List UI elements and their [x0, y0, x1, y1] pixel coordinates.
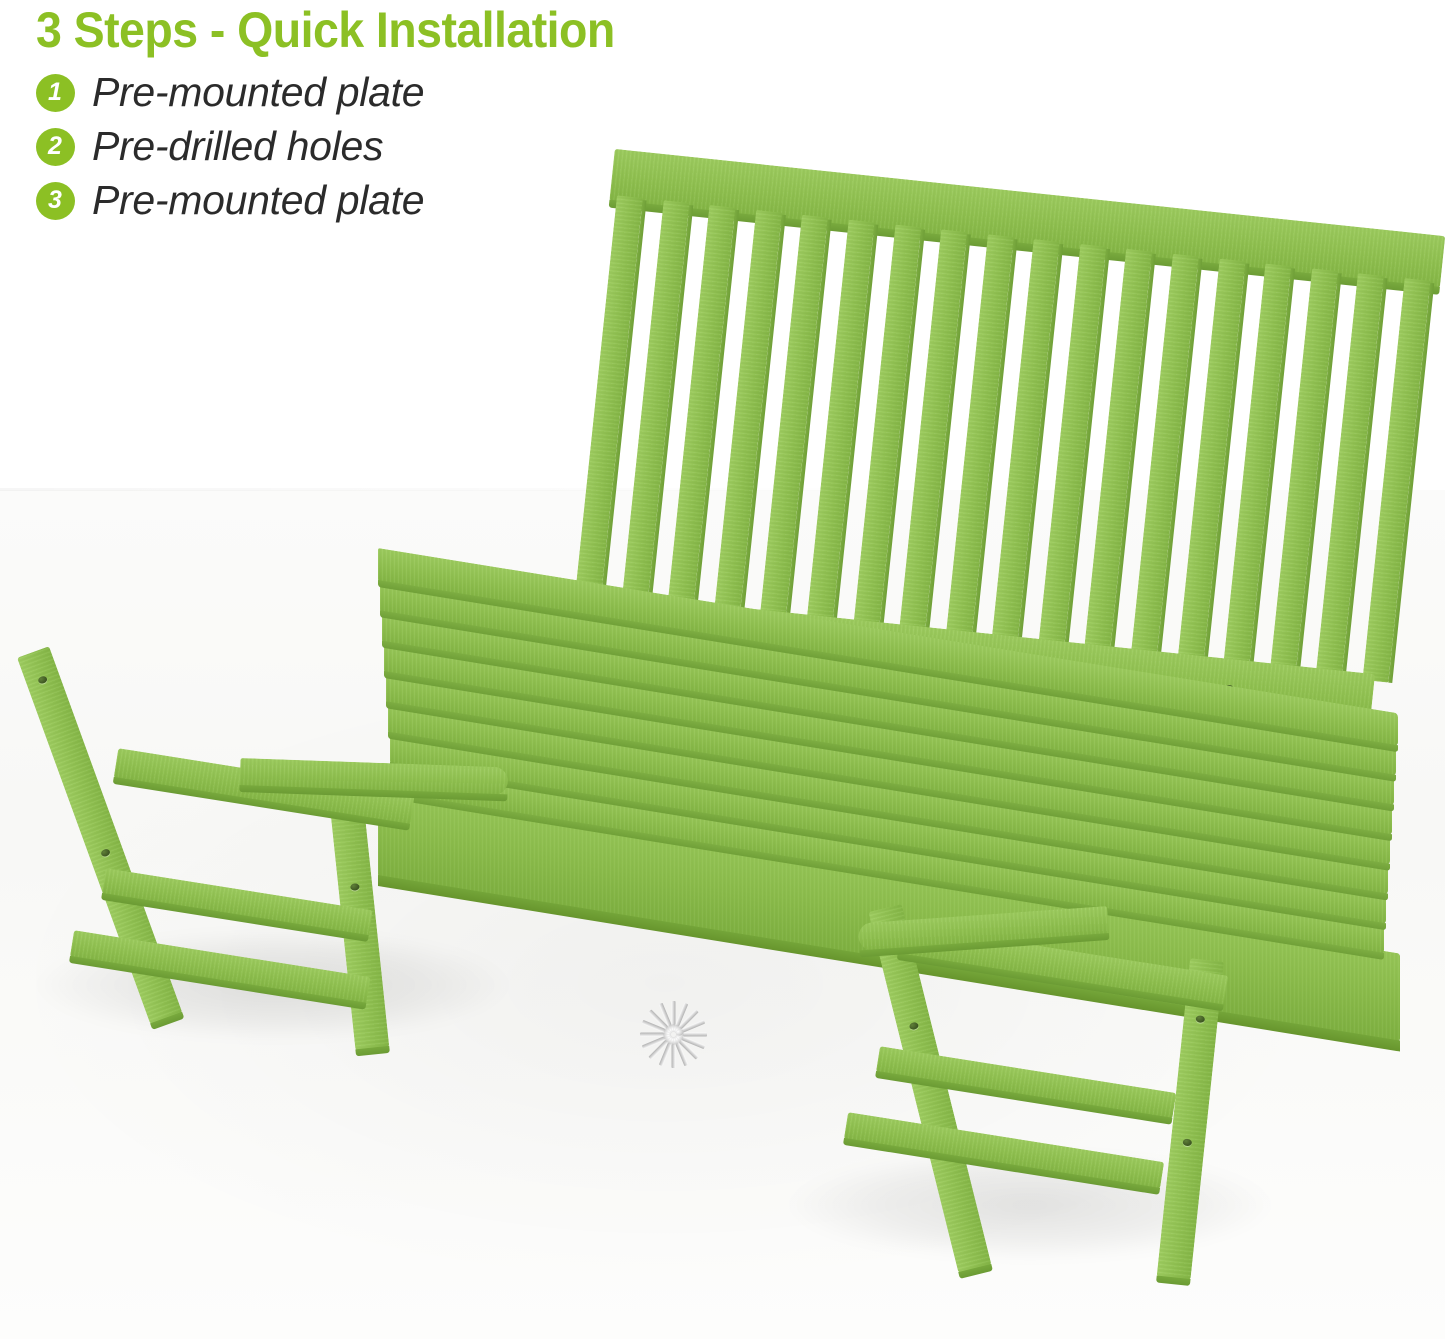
leg-arm-rail-left: [240, 758, 509, 795]
step-badge-1: 1: [36, 74, 75, 112]
page-title: 3 Steps - Quick Installation: [36, 4, 1022, 57]
product-installation-graphic: 3 Steps - Quick Installation 1 Pre-mount…: [0, 0, 1445, 1339]
step-label-2: Pre-drilled holes: [92, 126, 383, 167]
pre-drilled-hole: [37, 675, 48, 685]
step-badge-2: 2: [36, 128, 75, 166]
pre-drilled-hole: [1182, 1138, 1192, 1146]
step-label-1: Pre-mounted plate: [92, 72, 424, 113]
step-badge-3: 3: [36, 182, 75, 220]
hardware-screw-set: [622, 995, 724, 1073]
pre-drilled-hole: [909, 1022, 919, 1031]
bench-leg-frame-left: [8, 630, 628, 1080]
bench-leg-frame-right: [750, 860, 1370, 1290]
pre-drilled-hole: [1195, 1015, 1205, 1023]
step-label-3: Pre-mounted plate: [92, 180, 424, 221]
screw: [672, 1041, 676, 1068]
screw: [640, 1033, 667, 1037]
step-item-1: 1 Pre-mounted plate: [36, 70, 1096, 116]
pre-drilled-hole: [100, 848, 111, 858]
pre-drilled-hole: [350, 883, 360, 891]
